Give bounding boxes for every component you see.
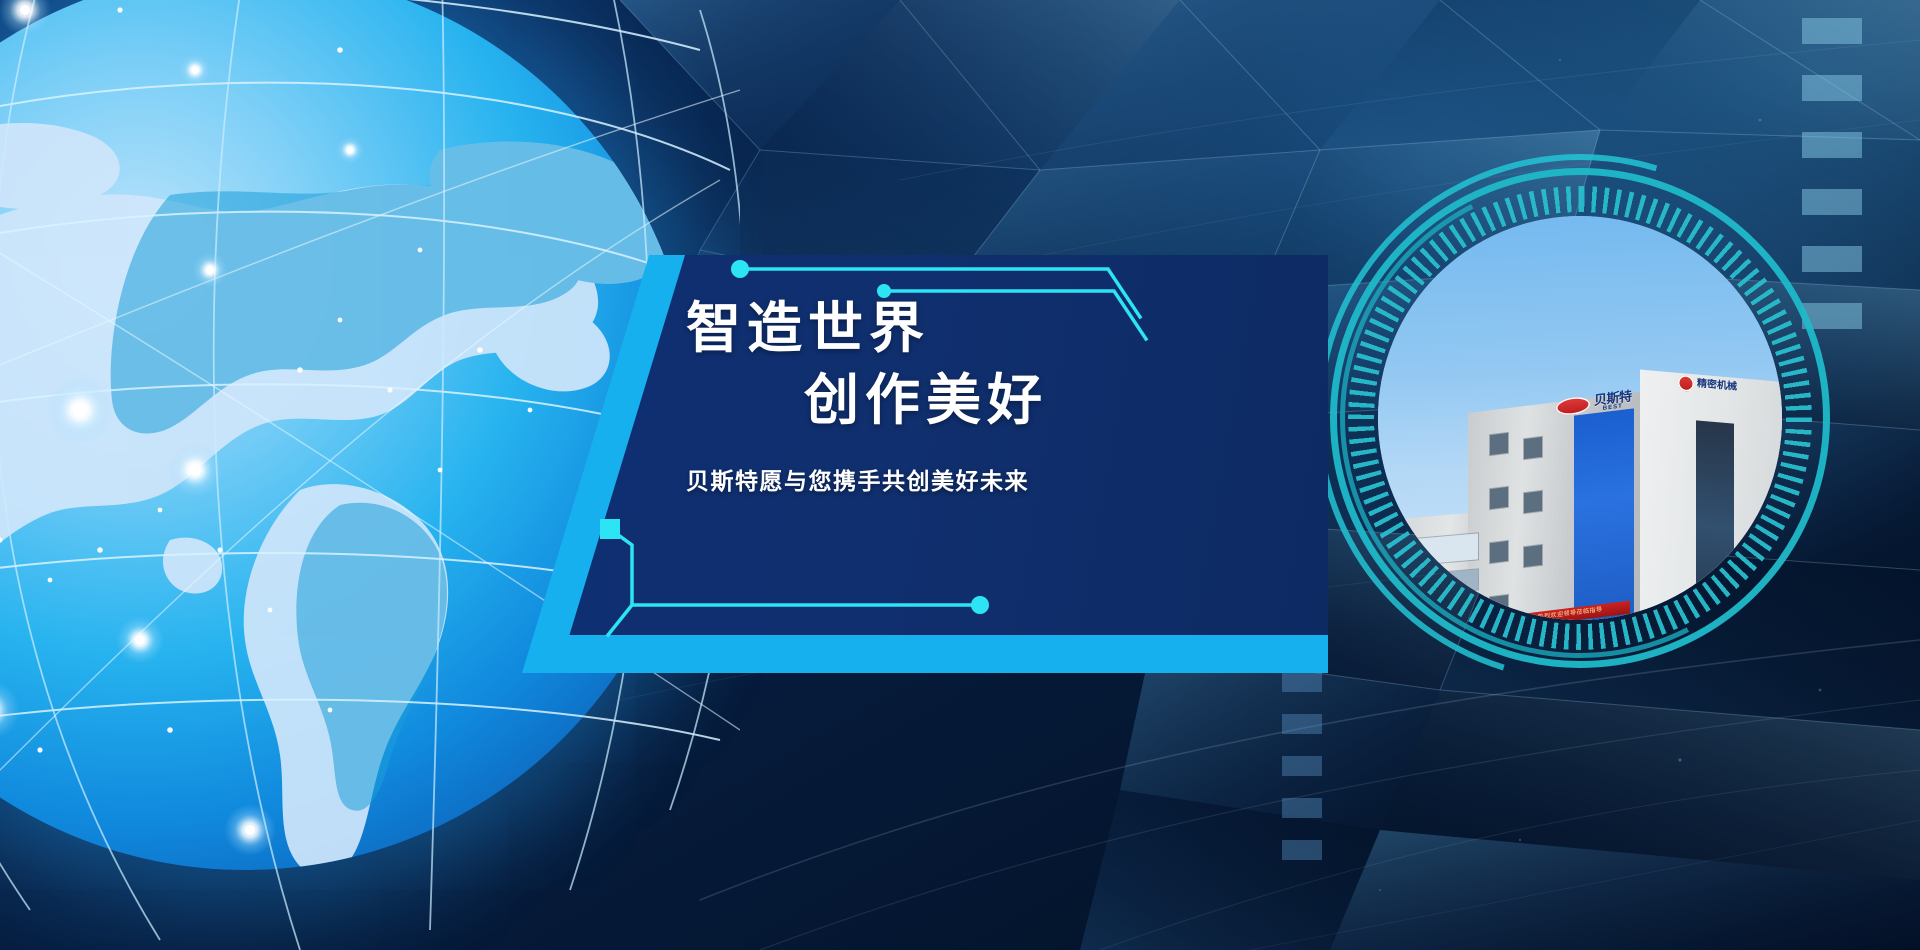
building-photo: 贝斯特 BEST 精密机械 热烈欢迎领导莅临指导	[1378, 216, 1782, 620]
decor-rect	[1802, 132, 1862, 158]
decor-rect	[1802, 18, 1862, 44]
building-glass-curtain	[1574, 408, 1634, 620]
decor-rect	[1282, 672, 1322, 692]
window	[1524, 491, 1542, 513]
window	[1490, 541, 1508, 563]
sign-secondary-text: 精密机械	[1697, 379, 1737, 392]
window	[1490, 433, 1508, 455]
window	[1524, 437, 1542, 459]
sign-english-text: BEST	[1603, 403, 1623, 411]
window	[1524, 545, 1542, 567]
company-logo-icon-secondary	[1678, 375, 1694, 392]
hero-banner: 贝斯特 BEST 精密机械 热烈欢迎领导莅临指导	[0, 0, 1920, 950]
sign-text-group: 贝斯特 BEST	[1594, 389, 1632, 413]
headline-text-block: 智造世界 创作美好	[686, 300, 1246, 430]
window-strip	[1418, 533, 1478, 564]
window	[1490, 595, 1508, 617]
circular-photo-medallion: 贝斯特 BEST 精密机械 热烈欢迎领导莅临指导	[1330, 168, 1830, 668]
headline-line-2: 创作美好	[686, 372, 1246, 430]
decor-rect	[1282, 756, 1322, 776]
decor-rect	[1282, 714, 1322, 734]
decor-rect	[1282, 798, 1322, 818]
decor-rect	[1282, 840, 1322, 860]
subtitle-text: 贝斯特愿与您携手共创美好未来	[686, 462, 1029, 496]
company-logo-icon	[1556, 395, 1590, 416]
decor-rect	[1802, 75, 1862, 101]
window	[1490, 487, 1508, 509]
building-right-glass	[1696, 420, 1734, 620]
headline-line-1: 智造世界	[686, 300, 1246, 358]
decor-rect-stack-mid	[1282, 672, 1322, 860]
